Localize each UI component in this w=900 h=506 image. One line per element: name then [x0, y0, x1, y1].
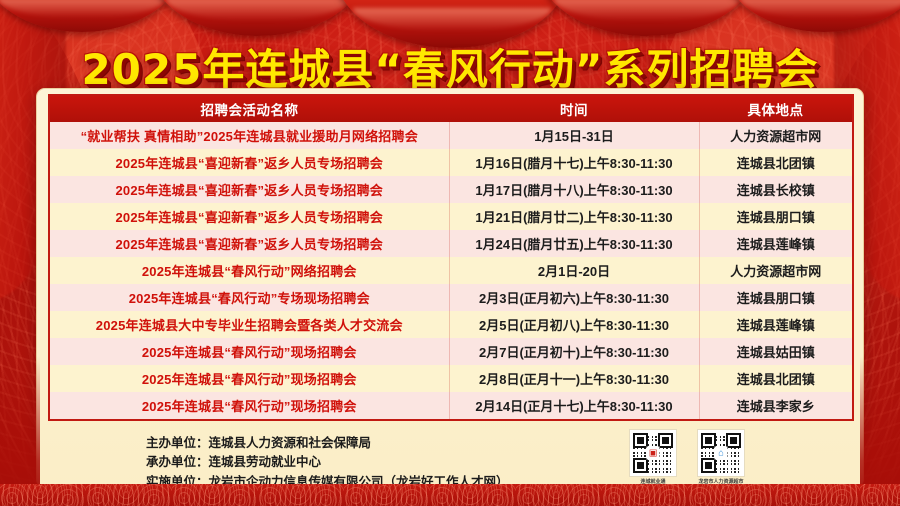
table-row: 2025年连城县“春风行动”网络招聘会 2月1日-20日 人力资源超市网 — [49, 257, 853, 284]
cell-event-place: 连城县朋口镇 — [699, 203, 853, 230]
cell-event-place: 连城县朋口镇 — [699, 284, 853, 311]
cell-event-time: 1月24日(腊月廿五)上午8:30-11:30 — [449, 230, 699, 257]
cell-event-place: 连城县长校镇 — [699, 176, 853, 203]
curtain-swag-2 — [148, 0, 368, 36]
cell-event-name: 2025年连城县“喜迎新春”返乡人员专场招聘会 — [49, 176, 449, 203]
cell-event-place: 连城县莲峰镇 — [699, 311, 853, 338]
curtain-swag-4 — [536, 0, 758, 36]
table-row: 2025年连城县“喜迎新春”返乡人员专场招聘会 1月16日(腊月十七)上午8:3… — [49, 149, 853, 176]
table-row: 2025年连城县“春风行动”专场现场招聘会 2月3日(正月初六)上午8:30-1… — [49, 284, 853, 311]
cell-event-time: 2月14日(正月十七)上午8:30-11:30 — [449, 392, 699, 420]
cell-event-time: 2月1日-20日 — [449, 257, 699, 284]
cell-event-time: 2月7日(正月初十)上午8:30-11:30 — [449, 338, 699, 365]
cell-event-place: 连城县北团镇 — [699, 365, 853, 392]
cell-event-name: 2025年连城县“春风行动”现场招聘会 — [49, 365, 449, 392]
table-row: 2025年连城县“喜迎新春”返乡人员专场招聘会 1月24日(腊月廿五)上午8:3… — [49, 230, 853, 257]
table-header-row: 招聘会活动名称 时间 具体地点 — [49, 95, 853, 122]
column-header-time: 时间 — [449, 95, 699, 122]
table-row: 2025年连城县“春风行动”现场招聘会 2月14日(正月十七)上午8:30-11… — [49, 392, 853, 420]
cell-event-place: 连城县姑田镇 — [699, 338, 853, 365]
spiral-cloud-pattern — [0, 484, 900, 506]
column-header-place: 具体地点 — [699, 95, 853, 122]
cell-event-name: “就业帮扶 真情相助”2025年连城县就业援助月网络招聘会 — [49, 122, 449, 149]
cell-event-name: 2025年连城县大中专毕业生招聘会暨各类人才交流会 — [49, 311, 449, 338]
cell-event-place: 连城县李家乡 — [699, 392, 853, 420]
qrcode-item[interactable]: ⌂ 龙岩市人力资源超市 — [698, 430, 744, 485]
qrcode-logo-icon: ⌂ — [715, 447, 728, 460]
table-body: “就业帮扶 真情相助”2025年连城县就业援助月网络招聘会 1月15日-31日 … — [49, 122, 853, 420]
poster-root: 2025年连城县“春风行动”系列招聘会 招聘会活动名称 时间 具体地点 “就业帮… — [0, 0, 900, 506]
footer: 主办单位：连城县人力资源和社会保障局 承办单位：连城县劳动就业中心 实施单位：龙… — [36, 432, 864, 488]
organizer-cohost: 承办单位：连城县劳动就业中心 — [146, 453, 509, 472]
table-row: 2025年连城县大中专毕业生招聘会暨各类人才交流会 2月5日(正月初八)上午8:… — [49, 311, 853, 338]
table-row: “就业帮扶 真情相助”2025年连城县就业援助月网络招聘会 1月15日-31日 … — [49, 122, 853, 149]
cell-event-time: 2月8日(正月十一)上午8:30-11:30 — [449, 365, 699, 392]
table-row: 2025年连城县“喜迎新春”返乡人员专场招聘会 1月21日(腊月廿二)上午8:3… — [49, 203, 853, 230]
cell-event-time: 1月17日(腊月十八)上午8:30-11:30 — [449, 176, 699, 203]
title-container: 2025年连城县“春风行动”系列招聘会 — [0, 36, 900, 92]
cell-event-name: 2025年连城县“喜迎新春”返乡人员专场招聘会 — [49, 149, 449, 176]
table-row: 2025年连城县“春风行动”现场招聘会 2月8日(正月十一)上午8:30-11:… — [49, 365, 853, 392]
qrcode-item[interactable]: ▣ 连城就业通 — [630, 430, 676, 485]
cell-event-place: 人力资源超市网 — [699, 257, 853, 284]
cell-event-place: 连城县莲峰镇 — [699, 230, 853, 257]
table-row: 2025年连城县“喜迎新春”返乡人员专场招聘会 1月17日(腊月十八)上午8:3… — [49, 176, 853, 203]
cell-event-name: 2025年连城县“喜迎新春”返乡人员专场招聘会 — [49, 203, 449, 230]
cell-event-time: 2月5日(正月初八)上午8:30-11:30 — [449, 311, 699, 338]
cell-event-name: 2025年连城县“春风行动”现场招聘会 — [49, 392, 449, 420]
qrcode-group: ▣ 连城就业通 ⌂ 龙岩市人力资源超市 — [630, 430, 744, 485]
qrcode-logo-icon: ▣ — [647, 447, 660, 460]
cell-event-name: 2025年连城县“春风行动”网络招聘会 — [49, 257, 449, 284]
cell-event-place: 人力资源超市网 — [699, 122, 853, 149]
cell-event-time: 1月15日-31日 — [449, 122, 699, 149]
cell-event-place: 连城县北团镇 — [699, 149, 853, 176]
organizer-host: 主办单位：连城县人力资源和社会保障局 — [146, 434, 509, 453]
cell-event-time: 1月21日(腊月廿二)上午8:30-11:30 — [449, 203, 699, 230]
bottom-pattern-band — [0, 484, 900, 506]
recruitment-schedule-table: 招聘会活动名称 时间 具体地点 “就业帮扶 真情相助”2025年连城县就业援助月… — [48, 94, 854, 421]
cell-event-time: 2月3日(正月初六)上午8:30-11:30 — [449, 284, 699, 311]
table-row: 2025年连城县“春风行动”现场招聘会 2月7日(正月初十)上午8:30-11:… — [49, 338, 853, 365]
qrcode-image-1[interactable]: ▣ — [630, 430, 676, 476]
cell-event-name: 2025年连城县“春风行动”专场现场招聘会 — [49, 284, 449, 311]
column-header-name: 招聘会活动名称 — [49, 95, 449, 122]
qrcode-image-2[interactable]: ⌂ — [698, 430, 744, 476]
cell-event-name: 2025年连城县“喜迎新春”返乡人员专场招聘会 — [49, 230, 449, 257]
cell-event-time: 1月16日(腊月十七)上午8:30-11:30 — [449, 149, 699, 176]
cell-event-name: 2025年连城县“春风行动”现场招聘会 — [49, 338, 449, 365]
